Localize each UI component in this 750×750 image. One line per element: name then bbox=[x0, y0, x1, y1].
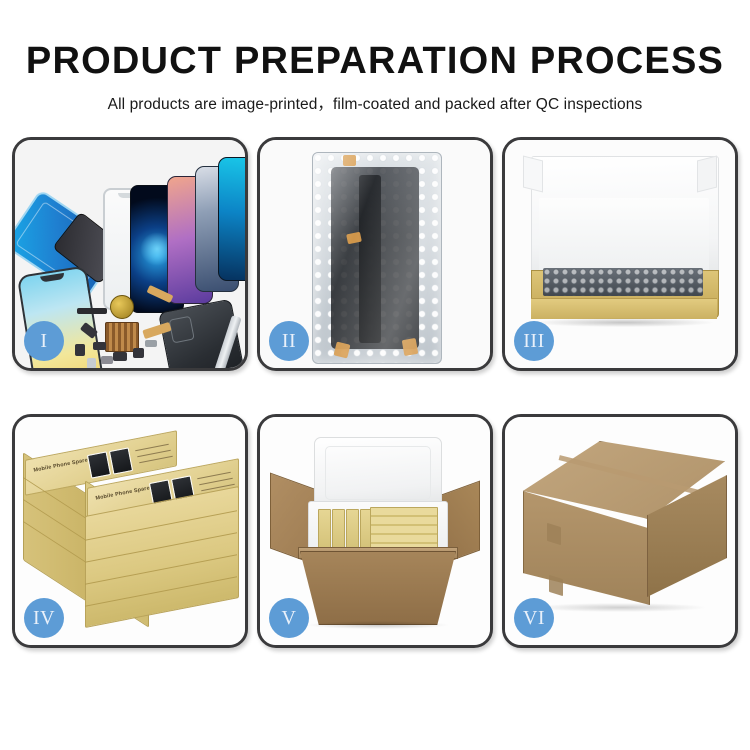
step-card-2: II bbox=[257, 137, 493, 371]
page-header: PRODUCT PREPARATION PROCESS All products… bbox=[0, 0, 750, 114]
plastic-sheen bbox=[313, 153, 441, 363]
small-part-6 bbox=[75, 344, 85, 356]
phone-display-cyan bbox=[218, 157, 245, 281]
carton-body bbox=[300, 551, 456, 625]
step-card-4: Mobile Phone Spare Parts Mobile Phone Sp… bbox=[12, 414, 248, 648]
bubble-wrapped-contents bbox=[543, 268, 703, 296]
step-badge-5: V bbox=[269, 598, 309, 638]
flex-cable-1 bbox=[77, 308, 107, 314]
step-badge-6: VI bbox=[514, 598, 554, 638]
step-badge-4: IV bbox=[24, 598, 64, 638]
box-lid-flap-right bbox=[697, 156, 717, 193]
step-card-1: I bbox=[12, 137, 248, 371]
small-part-8 bbox=[87, 358, 96, 368]
small-part-3 bbox=[113, 352, 127, 361]
step-badge-3: III bbox=[514, 321, 554, 361]
foam-container-lid bbox=[314, 437, 442, 509]
carton-shadow bbox=[535, 603, 705, 612]
box-label-screen-1b bbox=[109, 447, 133, 474]
small-part-7 bbox=[145, 340, 157, 347]
step-badge-1: I bbox=[24, 321, 64, 361]
step-card-5: V bbox=[257, 414, 493, 648]
step-badge-2: II bbox=[269, 321, 309, 361]
carton-tape-1 bbox=[547, 523, 561, 545]
page-subtitle: All products are image-printed，film-coat… bbox=[0, 80, 750, 114]
box-lid-flap-left bbox=[523, 156, 543, 193]
small-part-5 bbox=[101, 356, 113, 364]
speaker-component bbox=[110, 295, 134, 319]
kraft-box-front bbox=[531, 298, 717, 319]
box-label-screen-1a bbox=[87, 451, 111, 478]
step-card-6: VI bbox=[502, 414, 738, 648]
foam-liner bbox=[539, 198, 709, 274]
small-part-4 bbox=[133, 348, 144, 358]
carton-tape-2 bbox=[549, 575, 563, 596]
process-steps-grid: I II III bbox=[12, 137, 738, 682]
step-card-3: III bbox=[502, 137, 738, 371]
box-shadow bbox=[535, 318, 713, 327]
page-title: PRODUCT PREPARATION PROCESS bbox=[0, 0, 750, 80]
bubble-wrap-bag bbox=[312, 152, 442, 364]
small-part-2 bbox=[93, 342, 106, 350]
carton-shadow bbox=[308, 621, 448, 629]
